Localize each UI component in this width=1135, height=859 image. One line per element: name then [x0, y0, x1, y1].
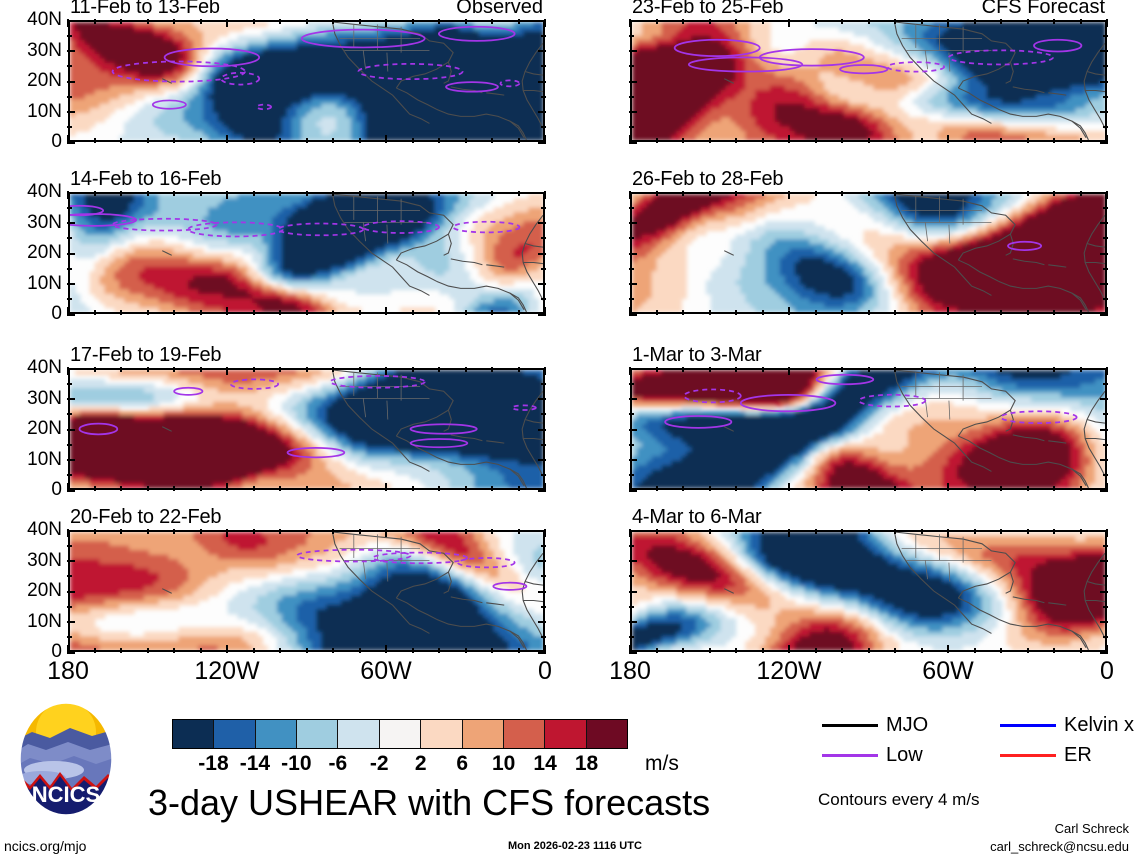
x-tick [412, 310, 414, 315]
x-tick [226, 645, 228, 653]
x-tick [253, 138, 255, 143]
x-tick [921, 648, 923, 653]
x-tick [385, 483, 387, 491]
x-tick [1027, 648, 1029, 653]
x-tick [544, 19, 546, 27]
x-tick [279, 486, 281, 491]
x-tick [359, 138, 361, 143]
x-tick [921, 367, 923, 372]
x-tick [94, 310, 96, 315]
y-tick [67, 81, 75, 83]
y-tick [538, 459, 546, 461]
y-minor-tick [629, 444, 634, 446]
y-minor-tick [67, 474, 72, 476]
x-tick [841, 648, 843, 653]
x-tick [306, 19, 308, 24]
y-minor-tick [67, 35, 72, 37]
x-tick [438, 138, 440, 143]
x-tick [438, 310, 440, 315]
x-tick [200, 529, 202, 534]
map-panel-6: 26-Feb to 28-Feb [630, 192, 1107, 314]
x-tick [894, 138, 896, 143]
x-tick [94, 19, 96, 24]
x-tick [332, 138, 334, 143]
y-tick [629, 253, 637, 255]
x-tick [120, 191, 122, 196]
y-tick [1100, 398, 1108, 400]
x-tick [465, 310, 467, 315]
y-minor-tick [67, 575, 72, 577]
x-tick [279, 19, 281, 24]
y-minor-tick [1103, 575, 1108, 577]
colorbar-tick-3: -6 [328, 752, 347, 776]
x-tick [1053, 529, 1055, 534]
x-axis-label: 0 [1100, 657, 1114, 686]
x-tick [921, 138, 923, 143]
x-tick [491, 138, 493, 143]
y-tick [1100, 253, 1108, 255]
x-tick [629, 19, 631, 27]
y-minor-tick [629, 298, 634, 300]
y-minor-tick [541, 575, 546, 577]
x-tick [94, 529, 96, 534]
y-minor-tick [629, 413, 634, 415]
x-tick [332, 191, 334, 196]
x-tick [974, 310, 976, 315]
x-tick [1053, 191, 1055, 196]
x-tick [253, 529, 255, 534]
x-tick [868, 486, 870, 491]
x-tick [1027, 529, 1029, 534]
er-line-swatch [1000, 754, 1056, 757]
y-axis-label: 20N [27, 70, 62, 92]
y-minor-tick [67, 237, 72, 239]
x-tick [682, 138, 684, 143]
x-tick [385, 135, 387, 143]
map-panel-2: 14-Feb to 16-Feb40N30N20N10N0 [68, 192, 545, 314]
x-tick [253, 648, 255, 653]
x-tick [629, 307, 631, 315]
x-tick [629, 367, 631, 375]
x-tick [629, 529, 631, 537]
y-minor-tick [1103, 636, 1108, 638]
x-tick [815, 529, 817, 534]
colorbar-tick-9: 18 [575, 752, 598, 776]
site-url[interactable]: ncics.org/mjo [4, 838, 86, 854]
x-tick [359, 19, 361, 24]
y-tick [538, 429, 546, 431]
x-tick [1000, 367, 1002, 372]
legend-entry-er: ER [1000, 744, 1092, 767]
y-axis-label: 40N [27, 357, 62, 379]
contour-interval-note: Contours every 4 m/s [818, 790, 980, 810]
map-panel-5: 23-Feb to 25-FebCFS Forecast [630, 20, 1107, 142]
colorbar-swatch-7 [463, 720, 504, 748]
x-tick [656, 648, 658, 653]
x-tick [815, 648, 817, 653]
x-tick [359, 529, 361, 534]
y-axis-label: 0 [51, 131, 62, 153]
x-tick [465, 529, 467, 534]
x-tick [1080, 648, 1082, 653]
x-tick [947, 191, 949, 199]
x-tick [544, 135, 546, 143]
y-axis-label: 20N [27, 580, 62, 602]
x-tick [544, 645, 546, 653]
x-tick [1027, 138, 1029, 143]
x-tick [332, 529, 334, 534]
x-tick [709, 19, 711, 24]
x-tick [894, 367, 896, 372]
x-tick [147, 486, 149, 491]
x-tick [67, 307, 69, 315]
x-tick [120, 486, 122, 491]
x-tick [253, 191, 255, 196]
colorbar [172, 719, 628, 749]
x-tick [947, 483, 949, 491]
colorbar-swatch-5 [380, 720, 421, 748]
x-tick [947, 367, 949, 375]
x-tick [1106, 529, 1108, 537]
x-tick [1106, 19, 1108, 27]
x-tick [894, 19, 896, 24]
y-tick [538, 253, 546, 255]
x-tick [656, 367, 658, 372]
colorbar-tick-6: 6 [456, 752, 468, 776]
y-minor-tick [541, 268, 546, 270]
x-tick [412, 19, 414, 24]
x-tick [279, 310, 281, 315]
y-minor-tick [67, 65, 72, 67]
x-tick [359, 367, 361, 372]
y-tick [1100, 591, 1108, 593]
x-tick [921, 310, 923, 315]
x-tick [147, 529, 149, 534]
x-tick [518, 191, 520, 196]
colorbar-unit-label: m/s [645, 752, 679, 776]
y-tick [67, 621, 75, 623]
x-tick [438, 191, 440, 196]
x-tick [67, 135, 69, 143]
colorbar-swatch-3 [297, 720, 338, 748]
x-tick [279, 191, 281, 196]
map-panel-8: 4-Mar to 6-Mar180120W60W0 [630, 530, 1107, 652]
x-tick [491, 367, 493, 372]
y-minor-tick [541, 474, 546, 476]
panel-title: 20-Feb to 22-Feb [70, 506, 221, 529]
x-tick [868, 191, 870, 196]
y-minor-tick [1103, 383, 1108, 385]
x-tick [306, 191, 308, 196]
x-tick [491, 486, 493, 491]
x-tick [200, 648, 202, 653]
x-tick [1106, 367, 1108, 375]
x-tick [544, 529, 546, 537]
x-tick [735, 648, 737, 653]
x-tick [656, 486, 658, 491]
x-tick [762, 648, 764, 653]
x-tick [1000, 486, 1002, 491]
y-minor-tick [1103, 444, 1108, 446]
x-tick [815, 19, 817, 24]
colorbar-swatch-2 [256, 720, 297, 748]
x-tick [682, 529, 684, 534]
x-tick [1106, 645, 1108, 653]
colorbar-swatch-6 [421, 720, 462, 748]
y-tick [1100, 283, 1108, 285]
y-tick [629, 429, 637, 431]
panel-title: 4-Mar to 6-Mar [632, 506, 761, 529]
y-tick [1100, 222, 1108, 224]
x-tick [735, 486, 737, 491]
x-tick [1000, 310, 1002, 315]
x-tick [788, 483, 790, 491]
x-tick [974, 19, 976, 24]
x-tick [709, 191, 711, 196]
y-axis-label: 10N [27, 611, 62, 633]
x-tick [868, 648, 870, 653]
y-minor-tick [541, 383, 546, 385]
y-tick [67, 253, 75, 255]
y-minor-tick [541, 298, 546, 300]
colorbar-swatch-0 [173, 720, 214, 748]
y-minor-tick [629, 126, 634, 128]
x-tick [868, 310, 870, 315]
x-tick [1027, 19, 1029, 24]
map-field [630, 20, 1107, 142]
y-tick [67, 398, 75, 400]
x-tick [94, 191, 96, 196]
x-tick [120, 367, 122, 372]
ncics-logo: NCICS [12, 698, 120, 820]
y-tick [67, 591, 75, 593]
x-tick [518, 486, 520, 491]
x-tick [226, 367, 228, 375]
x-tick [1106, 191, 1108, 199]
x-tick [67, 367, 69, 375]
x-tick [841, 138, 843, 143]
y-minor-tick [541, 636, 546, 638]
y-tick [629, 283, 637, 285]
x-tick [67, 529, 69, 537]
x-tick [94, 486, 96, 491]
x-tick [200, 310, 202, 315]
y-tick [629, 111, 637, 113]
panel-tag: Observed [456, 0, 543, 19]
x-tick [815, 486, 817, 491]
x-tick [173, 367, 175, 372]
x-tick [841, 367, 843, 372]
x-tick [1080, 19, 1082, 24]
y-minor-tick [1103, 474, 1108, 476]
x-axis-label: 180 [47, 657, 89, 686]
x-tick [226, 529, 228, 537]
main-title: 3-day USHEAR with CFS forecasts [148, 782, 710, 824]
x-tick [841, 191, 843, 196]
x-tick [947, 19, 949, 27]
x-tick [629, 191, 631, 199]
x-tick [412, 486, 414, 491]
y-axis-label: 20N [27, 418, 62, 440]
x-tick [67, 191, 69, 199]
y-minor-tick [67, 606, 72, 608]
legend-label-er: ER [1064, 744, 1092, 767]
y-minor-tick [629, 636, 634, 638]
x-tick [518, 648, 520, 653]
x-tick [332, 367, 334, 372]
x-tick [306, 648, 308, 653]
x-tick [709, 486, 711, 491]
legend-entry-mjo: MJO [822, 714, 928, 737]
y-minor-tick [67, 413, 72, 415]
x-tick [94, 367, 96, 372]
x-tick [306, 310, 308, 315]
colorbar-tick-2: -10 [281, 752, 311, 776]
x-tick [1080, 310, 1082, 315]
author-email[interactable]: carl_schreck@ncsu.edu [990, 838, 1129, 856]
y-minor-tick [67, 298, 72, 300]
x-tick [735, 19, 737, 24]
colorbar-swatch-10 [587, 720, 627, 748]
x-tick [359, 191, 361, 196]
y-minor-tick [629, 383, 634, 385]
y-axis-label: 40N [27, 9, 62, 31]
map-panel-1: 11-Feb to 13-FebObserved40N30N20N10N0 [68, 20, 545, 142]
map-panel-4: 20-Feb to 22-Feb40N30N20N10N0180120W60W0 [68, 530, 545, 652]
y-axis-label: 30N [27, 388, 62, 410]
y-axis-label: 40N [27, 519, 62, 541]
x-tick [682, 367, 684, 372]
x-tick [359, 648, 361, 653]
y-minor-tick [541, 545, 546, 547]
x-tick [762, 367, 764, 372]
x-tick [147, 19, 149, 24]
y-tick [1100, 50, 1108, 52]
y-minor-tick [67, 126, 72, 128]
y-minor-tick [67, 545, 72, 547]
y-minor-tick [1103, 413, 1108, 415]
x-tick [1053, 310, 1055, 315]
x-tick [974, 138, 976, 143]
y-tick [538, 621, 546, 623]
x-tick [868, 367, 870, 372]
y-minor-tick [67, 268, 72, 270]
x-tick [306, 367, 308, 372]
author-name: Carl Schreck [990, 820, 1129, 838]
x-tick [947, 529, 949, 537]
x-tick [1027, 486, 1029, 491]
y-tick [67, 111, 75, 113]
colorbar-tick-5: 2 [415, 752, 427, 776]
x-tick [332, 486, 334, 491]
y-tick [629, 81, 637, 83]
y-minor-tick [541, 126, 546, 128]
x-tick [921, 529, 923, 534]
x-tick [841, 19, 843, 24]
y-minor-tick [1103, 268, 1108, 270]
timestamp: Mon 2026-02-23 1116 UTC [508, 840, 642, 852]
x-tick [709, 529, 711, 534]
legend-label-kelvin: Kelvin x2 [1064, 714, 1135, 737]
y-axis-label: 0 [51, 479, 62, 501]
y-tick [629, 621, 637, 623]
colorbar-tick-1: -14 [240, 752, 270, 776]
x-tick [762, 310, 764, 315]
x-tick [173, 19, 175, 24]
y-minor-tick [1103, 237, 1108, 239]
y-minor-tick [67, 444, 72, 446]
x-tick [147, 367, 149, 372]
x-tick [491, 310, 493, 315]
x-tick [173, 191, 175, 196]
x-tick [491, 529, 493, 534]
legend-entry-kelvin: Kelvin x2 [1000, 714, 1135, 737]
x-tick [974, 367, 976, 372]
x-tick [1000, 648, 1002, 653]
y-tick [538, 222, 546, 224]
y-axis-label: 10N [27, 273, 62, 295]
x-tick [682, 310, 684, 315]
y-tick [629, 222, 637, 224]
panel-title: 26-Feb to 28-Feb [632, 168, 783, 191]
x-tick [385, 307, 387, 315]
x-tick [1080, 138, 1082, 143]
y-tick [629, 459, 637, 461]
x-tick [412, 648, 414, 653]
y-tick [538, 111, 546, 113]
map-field [630, 368, 1107, 490]
x-tick [253, 486, 255, 491]
x-tick [200, 138, 202, 143]
x-tick [709, 367, 711, 372]
x-tick [306, 486, 308, 491]
x-tick [841, 486, 843, 491]
x-tick [200, 19, 202, 24]
x-tick [120, 19, 122, 24]
y-minor-tick [629, 268, 634, 270]
y-tick [1100, 81, 1108, 83]
x-tick [629, 135, 631, 143]
x-tick [253, 19, 255, 24]
y-minor-tick [541, 207, 546, 209]
y-axis-label: 30N [27, 550, 62, 572]
x-tick [253, 367, 255, 372]
y-minor-tick [629, 545, 634, 547]
y-tick [629, 50, 637, 52]
x-tick [385, 191, 387, 199]
y-tick [67, 459, 75, 461]
logo-text: NCICS [32, 782, 100, 807]
y-tick [538, 398, 546, 400]
x-tick [762, 138, 764, 143]
x-tick [332, 648, 334, 653]
y-minor-tick [629, 96, 634, 98]
y-minor-tick [1103, 606, 1108, 608]
author-block: Carl Schreck carl_schreck@ncsu.edu [990, 820, 1129, 855]
x-tick [894, 310, 896, 315]
x-tick [1080, 486, 1082, 491]
x-tick [868, 529, 870, 534]
x-tick [735, 367, 737, 372]
x-tick [544, 191, 546, 199]
x-axis-label: 0 [538, 657, 552, 686]
panel-title: 1-Mar to 3-Mar [632, 344, 761, 367]
y-minor-tick [629, 207, 634, 209]
x-tick [815, 310, 817, 315]
y-axis-label: 10N [27, 101, 62, 123]
x-tick [788, 135, 790, 143]
x-axis-label: 180 [609, 657, 651, 686]
